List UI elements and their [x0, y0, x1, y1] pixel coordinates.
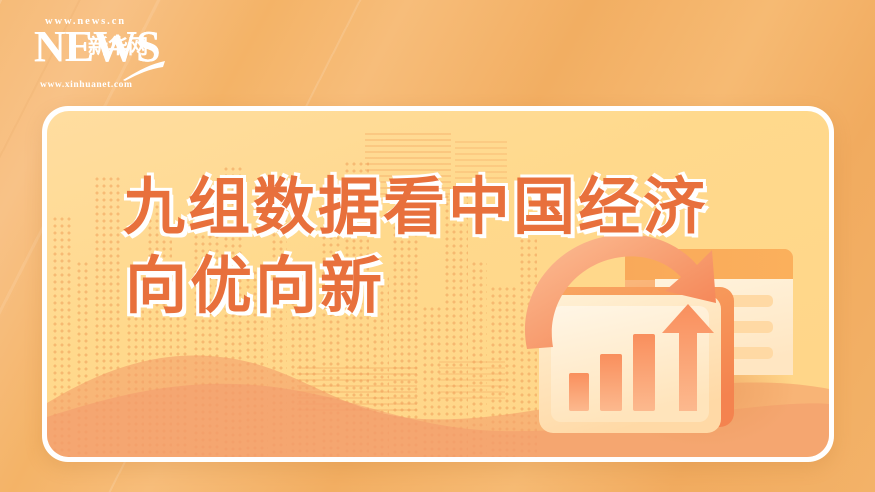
logo-chinese-name: 新华网 — [88, 30, 148, 59]
line-texture-d — [439, 361, 505, 403]
poster-canvas: www.news.cn NEWS 新华网 www.xinhuanet.com — [0, 0, 875, 492]
title-line-2: 向优向新 — [123, 246, 708, 325]
swoosh-icon — [122, 60, 166, 82]
xinhuanet-logo[interactable]: www.news.cn NEWS 新华网 www.xinhuanet.com — [34, 16, 164, 96]
poster-card-frame: 九组数据看中国经济 向优向新 — [42, 106, 834, 462]
bar-3 — [633, 334, 655, 411]
logo-url-bottom: www.xinhuanet.com — [40, 80, 133, 90]
bar-2 — [600, 354, 622, 411]
bar-1 — [569, 373, 589, 411]
title-line-1: 九组数据看中国经济 — [123, 167, 708, 246]
poster-card: 九组数据看中国经济 向优向新 — [47, 111, 829, 457]
line-texture-c — [297, 367, 417, 415]
page-title: 九组数据看中国经济 向优向新 — [123, 167, 708, 326]
